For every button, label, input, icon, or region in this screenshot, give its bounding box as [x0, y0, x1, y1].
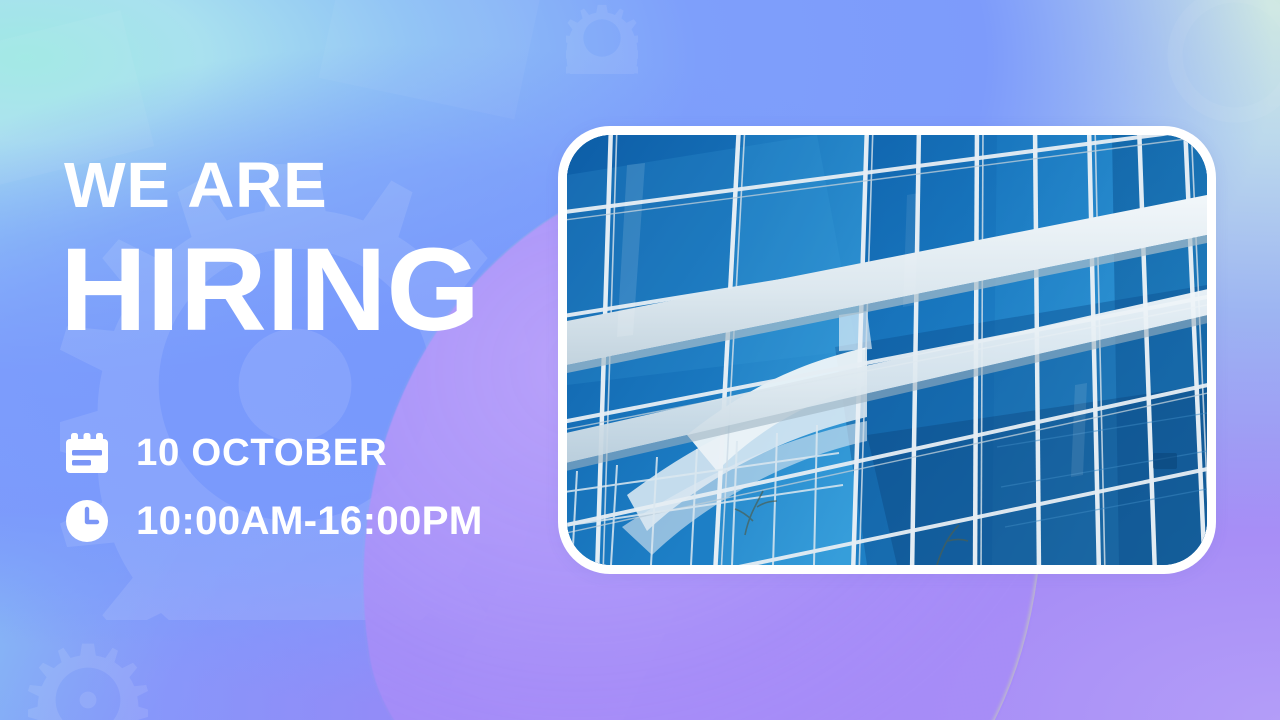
building-photo — [567, 135, 1207, 565]
headline-line-1: WE ARE — [64, 153, 327, 217]
event-date-text: 10 OCTOBER — [136, 434, 387, 472]
event-details: 10 OCTOBER 10:00AM-16:00PM — [64, 424, 479, 560]
hiring-poster: WE ARE HIRING 10 OCTOBER — [0, 0, 1280, 720]
calendar-icon — [64, 430, 110, 476]
headline-line-2: HIRING — [60, 231, 480, 349]
event-time-row: 10:00AM-16:00PM — [64, 492, 479, 550]
gear-icon — [1160, 0, 1280, 130]
event-date-row: 10 OCTOBER — [64, 424, 479, 482]
photo-card — [558, 126, 1216, 574]
text-column: WE ARE HIRING 10 OCTOBER — [64, 0, 584, 720]
event-time-text: 10:00AM-16:00PM — [136, 501, 483, 541]
clock-icon — [64, 498, 110, 544]
